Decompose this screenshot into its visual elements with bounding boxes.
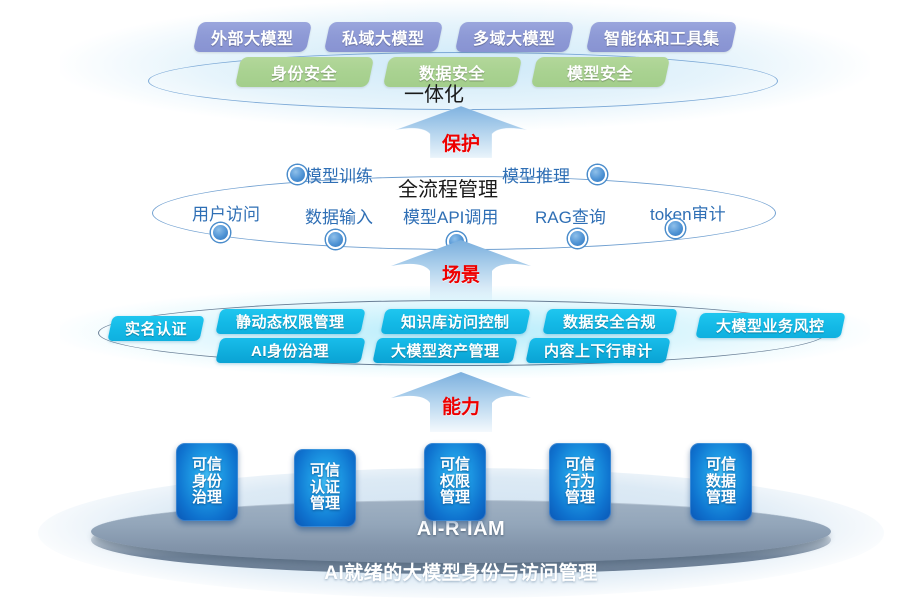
model-chip-3[interactable]: 智能体和工具集 [586, 22, 737, 52]
arrow-protection-label: 保护 [352, 129, 570, 156]
process-node-model-training[interactable] [288, 165, 307, 184]
capability-chip-6-label: 大模型资产管理 [391, 340, 500, 361]
process-label-model-inference: 模型推理 [502, 162, 570, 187]
pillar-1[interactable]: 可信 认证 管理 [294, 449, 356, 527]
capability-chip-4[interactable]: 大模型业务风控 [695, 313, 845, 338]
capability-chip-1-label: 静动态权限管理 [236, 311, 345, 332]
capability-chip-7-label: 内容上下行审计 [544, 340, 653, 361]
process-node-token-audit[interactable] [666, 219, 685, 238]
arrow-capability: 能力 [348, 370, 574, 432]
pillar-2-label: 可信 权限 管理 [440, 457, 470, 507]
model-chip-0-label: 外部大模型 [211, 25, 294, 49]
capability-chip-1[interactable]: 静动态权限管理 [215, 309, 365, 334]
capability-chip-3-label: 数据安全合规 [563, 311, 656, 332]
capability-chip-0[interactable]: 实名认证 [107, 316, 204, 341]
capability-chip-0-label: 实名认证 [125, 318, 187, 339]
capability-chip-5[interactable]: AI身份治理 [215, 338, 365, 363]
capability-chip-3[interactable]: 数据安全合规 [542, 309, 677, 334]
security-chip-2-label: 模型安全 [567, 60, 633, 84]
model-chip-0[interactable]: 外部大模型 [193, 22, 312, 52]
process-label-user-access: 用户访问 [192, 200, 260, 225]
process-label-data-input: 数据输入 [305, 203, 373, 228]
process-center-label: 全流程管理 [398, 173, 498, 202]
pillar-3-label: 可信 行为 管理 [565, 457, 595, 507]
arrow-protection: 保护 [352, 104, 570, 158]
pillar-4[interactable]: 可信 数据 管理 [690, 443, 752, 521]
arrow-capability-label: 能力 [348, 392, 574, 419]
capability-chip-6[interactable]: 大模型资产管理 [372, 338, 517, 363]
capability-chip-2[interactable]: 知识库访问控制 [380, 309, 530, 334]
pillar-1-label: 可信 认证 管理 [310, 463, 340, 513]
pillar-0[interactable]: 可信 身份 治理 [176, 443, 238, 521]
diagram-canvas: 外部大模型 私域大模型 多域大模型 智能体和工具集 身份安全 数据安全 模型安全… [0, 0, 922, 598]
capability-chip-4-label: 大模型业务风控 [716, 315, 825, 336]
pillar-0-label: 可信 身份 治理 [192, 457, 222, 507]
model-chip-1-label: 私域大模型 [342, 25, 425, 49]
capability-chip-2-label: 知识库访问控制 [401, 311, 510, 332]
pillar-3[interactable]: 可信 行为 管理 [549, 443, 611, 521]
integration-label: 一体化 [404, 78, 464, 107]
security-chip-0[interactable]: 身份安全 [235, 57, 374, 87]
arrow-scenario-label: 场景 [348, 260, 574, 287]
capability-chip-7[interactable]: 内容上下行审计 [525, 338, 670, 363]
pillar-2[interactable]: 可信 权限 管理 [424, 443, 486, 521]
pillar-4-label: 可信 数据 管理 [706, 457, 736, 507]
process-node-user-access[interactable] [211, 223, 230, 242]
platform-subtitle: AI就绪的大模型身份与访问管理 [38, 558, 884, 585]
process-node-model-inference[interactable] [588, 165, 607, 184]
process-label-rag-query: RAG查询 [535, 203, 606, 228]
security-chip-0-label: 身份安全 [271, 60, 337, 84]
process-node-data-input[interactable] [326, 230, 345, 249]
security-chip-2[interactable]: 模型安全 [531, 57, 670, 87]
platform-title: AI-R-IAM [91, 518, 831, 541]
model-chip-1[interactable]: 私域大模型 [324, 22, 443, 52]
model-chip-2[interactable]: 多域大模型 [455, 22, 574, 52]
process-label-model-training: 模型训练 [305, 162, 373, 187]
model-chip-3-label: 智能体和工具集 [604, 25, 720, 49]
model-chip-2-label: 多域大模型 [473, 25, 556, 49]
process-label-token-audit: token审计 [650, 200, 726, 225]
capability-chip-5-label: AI身份治理 [251, 340, 329, 361]
process-label-model-api-call: 模型API调用 [403, 203, 498, 228]
